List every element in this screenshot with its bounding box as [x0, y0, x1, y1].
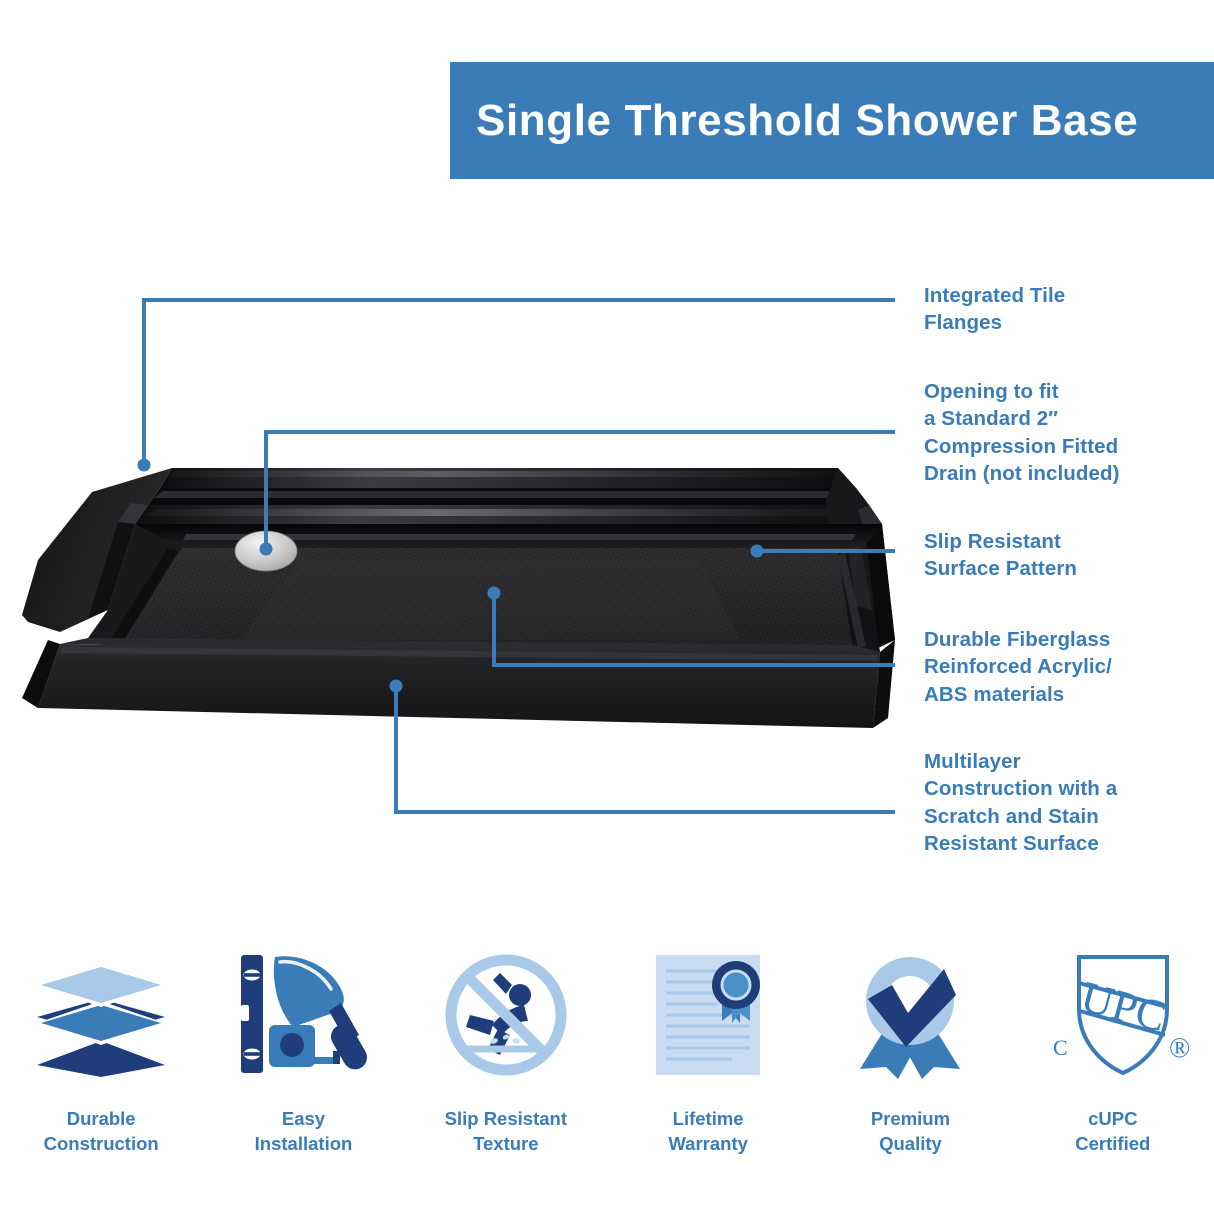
certificate-icon	[646, 945, 770, 1085]
callout-label-drain-opening: Opening to fit a Standard 2″ Compression…	[924, 378, 1120, 487]
feature-lifetime-warranty: Lifetime Warranty	[607, 945, 809, 1195]
title-banner: Single Threshold Shower Base	[450, 62, 1214, 179]
page-title: Single Threshold Shower Base	[476, 99, 1138, 143]
upc-registered-mark: ®	[1169, 1033, 1189, 1064]
feature-easy-installation: Easy Installation	[202, 945, 404, 1195]
feature-label-lifetime-warranty: Lifetime Warranty	[668, 1107, 748, 1156]
stacked-layers-icon	[31, 945, 171, 1085]
product-illustration	[0, 440, 900, 730]
callout-label-durable-materials: Durable Fiberglass Reinforced Acrylic/ A…	[924, 626, 1112, 708]
upc-prefix-c: C	[1053, 1035, 1068, 1060]
feature-label-durable-construction: Durable Construction	[44, 1107, 159, 1156]
callout-label-slip-resistant-surface: Slip Resistant Surface Pattern	[924, 528, 1077, 583]
no-slip-icon	[440, 945, 572, 1085]
callout-label-multilayer-construction: Multilayer Construction with a Scratch a…	[924, 748, 1117, 857]
feature-durable-construction: Durable Construction	[0, 945, 202, 1195]
feature-label-premium-quality: Premium Quality	[871, 1107, 950, 1156]
level-trowel-tape-icon	[233, 945, 373, 1085]
feature-cupc-certified: UPC C ® cUPC Certified	[1012, 945, 1214, 1195]
feature-label-cupc-certified: cUPC Certified	[1075, 1107, 1150, 1156]
upc-band-text: UPC	[1076, 972, 1171, 1041]
feature-slip-resistant-texture: Slip Resistant Texture	[405, 945, 607, 1195]
rosette-check-icon	[846, 945, 974, 1085]
feature-strip: Durable Construction	[0, 945, 1214, 1195]
feature-label-slip-resistant-texture: Slip Resistant Texture	[445, 1107, 567, 1156]
upc-shield-icon: UPC C ®	[1037, 945, 1189, 1085]
callout-label-integrated-tile-flanges: Integrated Tile Flanges	[924, 282, 1065, 337]
feature-label-easy-installation: Easy Installation	[255, 1107, 353, 1156]
feature-premium-quality: Premium Quality	[809, 945, 1011, 1195]
